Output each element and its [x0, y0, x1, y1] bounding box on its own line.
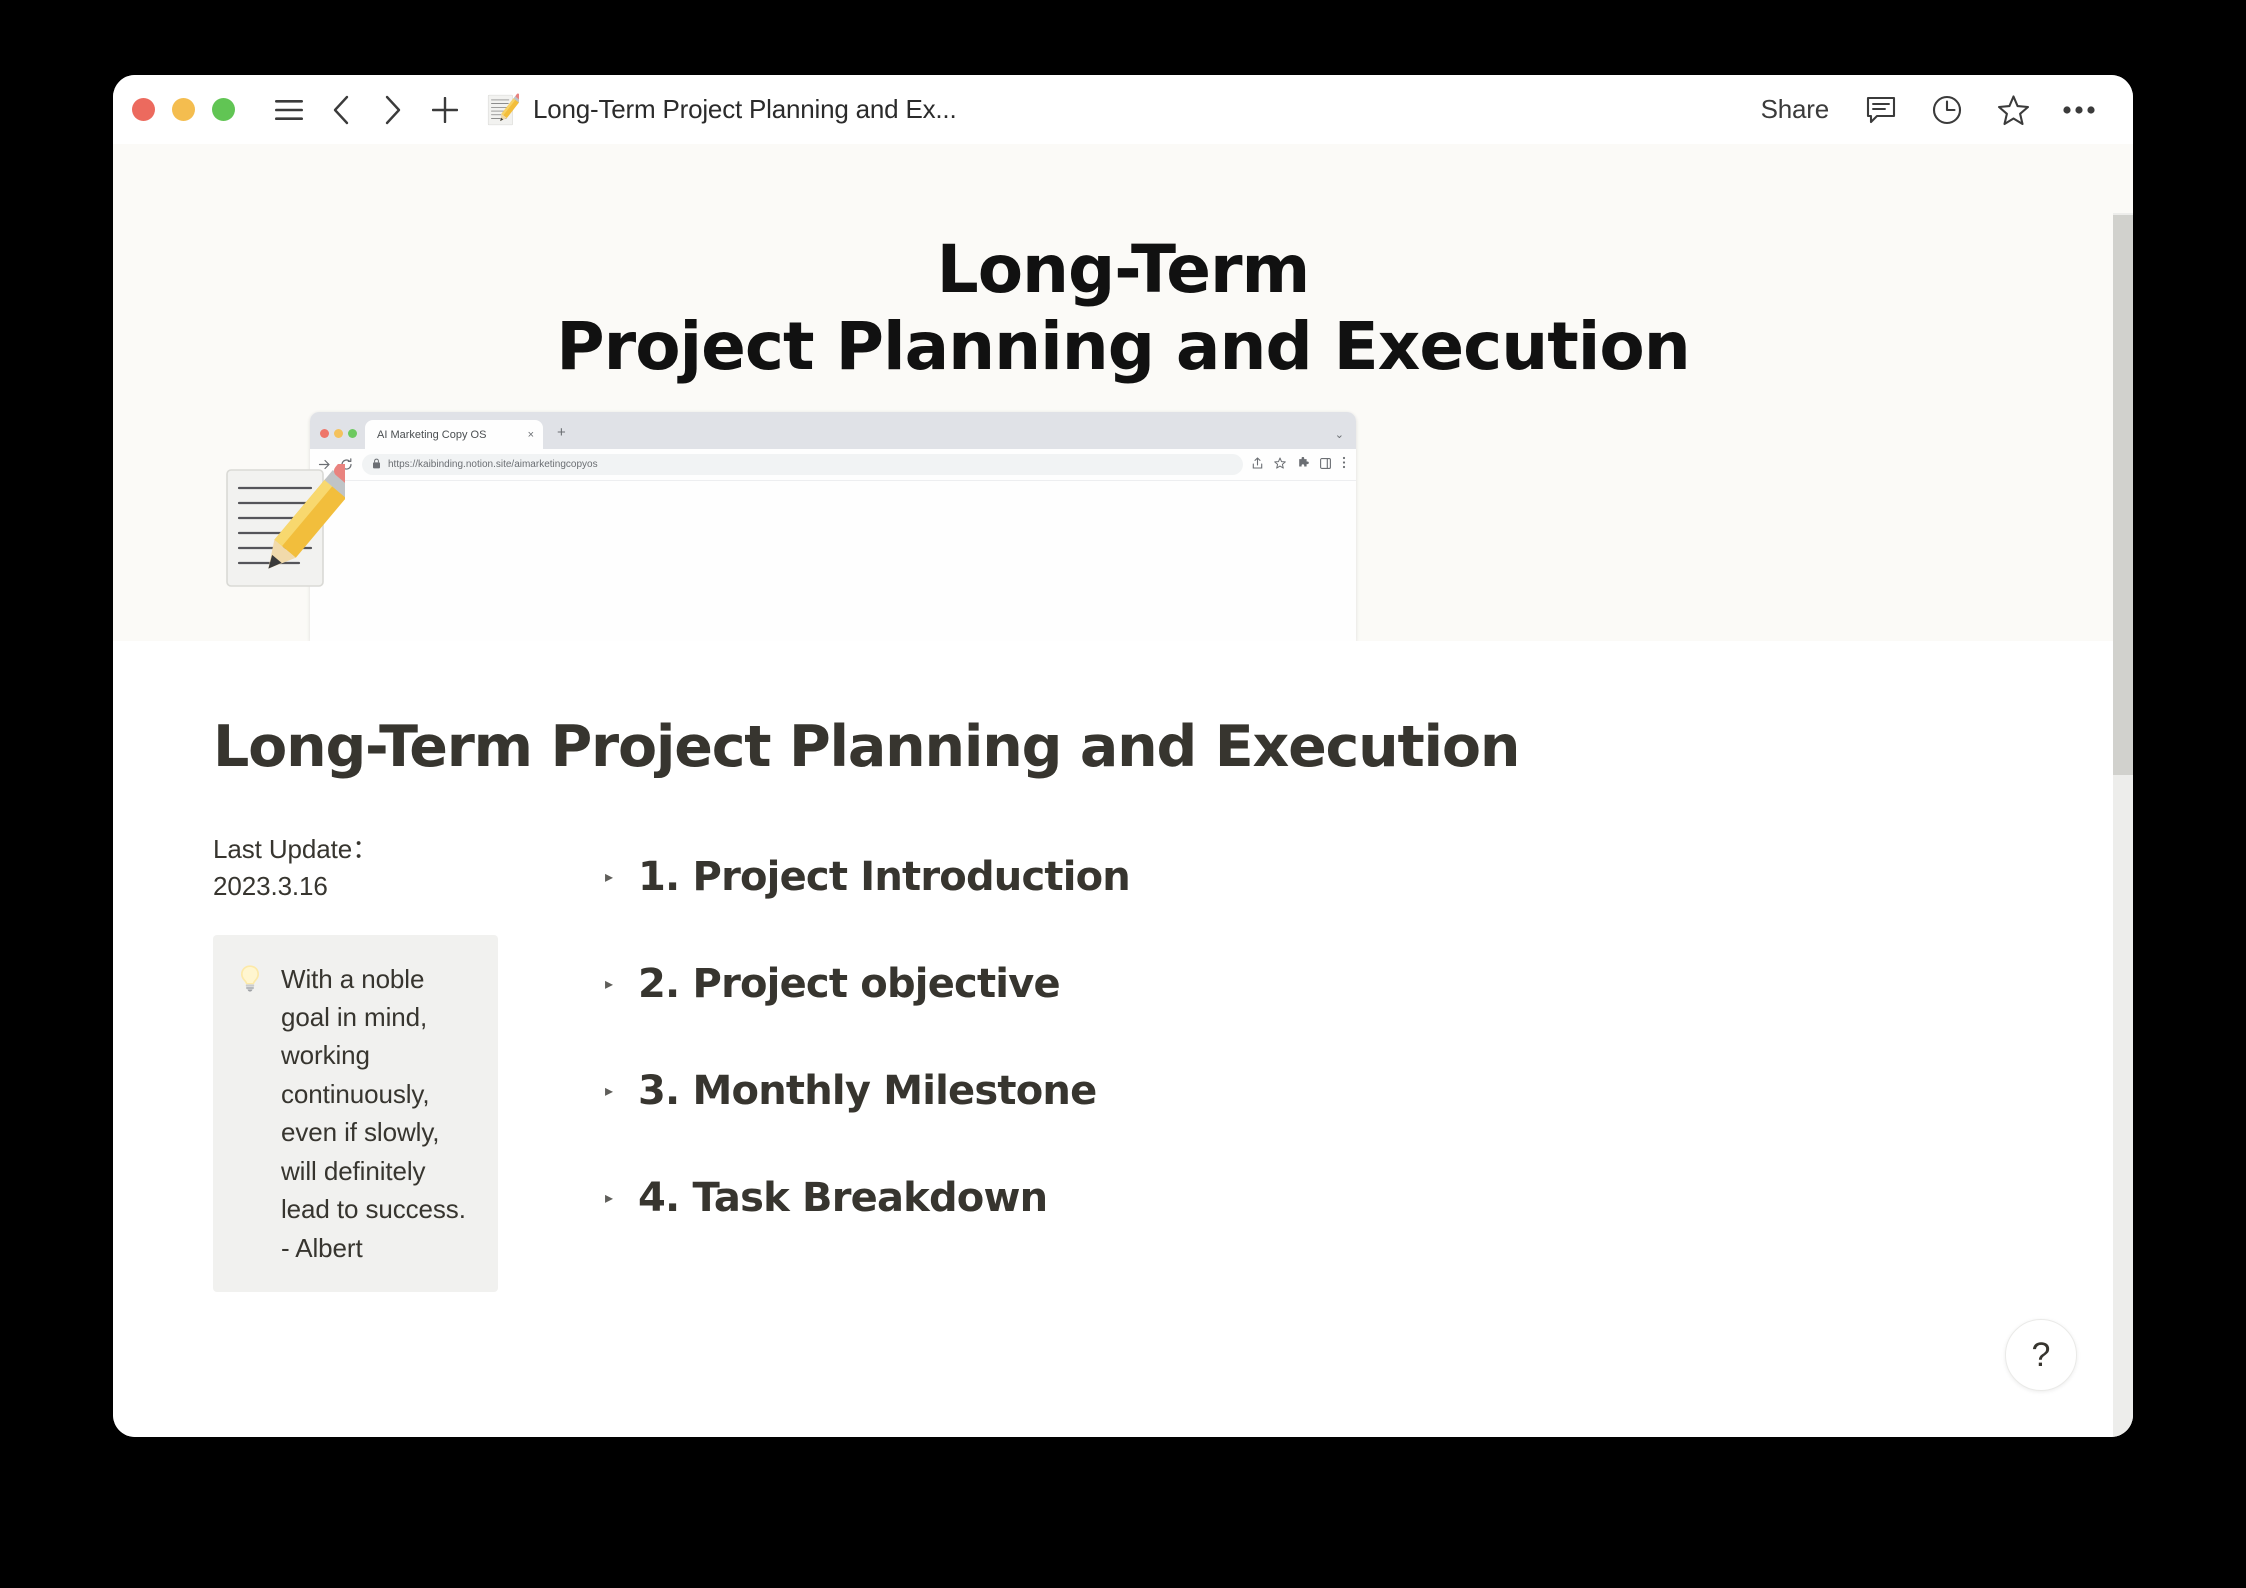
mock-close-dot	[320, 429, 329, 438]
mock-url-text: https://kaibinding.notion.site/aimarketi…	[388, 459, 598, 470]
mock-browser-urlbar: https://kaibinding.notion.site/aimarketi…	[310, 449, 1356, 481]
share-button[interactable]: Share	[1747, 86, 1843, 133]
puzzle-icon	[1297, 456, 1309, 474]
kebab-menu-icon	[1342, 456, 1346, 474]
app-window: Long-Term Project Planning and Ex... Sha…	[113, 75, 2133, 1437]
toggle-label: 1. Project Introduction	[638, 853, 1130, 901]
last-update-line: 2023.3.16	[213, 871, 328, 901]
toggle-item-1[interactable]: ▸ 1. Project Introduction	[598, 853, 2133, 901]
traffic-light-controls	[132, 98, 235, 121]
more-options-icon[interactable]	[2051, 82, 2107, 138]
mock-browser-tab: AI Marketing Copy OS ×	[365, 420, 543, 449]
clock-history-icon[interactable]	[1919, 82, 1975, 138]
share-icon	[1252, 456, 1263, 474]
chevron-left-icon[interactable]	[315, 84, 367, 136]
page-body: Long-Term Project Planning and Execution…	[113, 716, 2133, 1292]
document-title-text: Long-Term Project Planning and Ex...	[533, 94, 956, 125]
cover-browser-mockup: AI Marketing Copy OS × + ⌄	[310, 412, 1356, 641]
document-title-group[interactable]: Long-Term Project Planning and Ex...	[485, 93, 956, 127]
last-update-text: Last Update：2023.3.16	[213, 831, 498, 905]
mock-browser-viewport	[310, 481, 1356, 641]
toggle-label: 2. Project objective	[638, 960, 1060, 1008]
cover-title-line-1: Long-Term	[113, 232, 2133, 309]
chevron-right-icon[interactable]	[367, 84, 419, 136]
maximize-window-button[interactable]	[212, 98, 235, 121]
hamburger-menu-icon[interactable]	[263, 84, 315, 136]
titlebar-actions: Share	[1747, 82, 2133, 138]
toggle-item-3[interactable]: ▸ 3. Monthly Milestone	[598, 1067, 2133, 1115]
toggle-item-2[interactable]: ▸ 2. Project objective	[598, 960, 2133, 1008]
mock-browser-tabbar: AI Marketing Copy OS × + ⌄	[310, 412, 1356, 449]
mock-maximize-dot	[348, 429, 357, 438]
lock-icon	[372, 456, 381, 474]
mock-minimize-dot	[334, 429, 343, 438]
minimize-window-button[interactable]	[172, 98, 195, 121]
right-column: ▸ 1. Project Introduction ▸ 2. Project o…	[498, 831, 2133, 1281]
plus-icon[interactable]	[419, 84, 471, 136]
toggle-triangle-icon[interactable]: ▸	[598, 974, 620, 994]
mock-tablist-chevron-icon: ⌄	[1335, 428, 1344, 441]
toggle-triangle-icon[interactable]: ▸	[598, 1188, 620, 1208]
page-scroll-area[interactable]: Long-Term Project Planning and Execution…	[113, 144, 2133, 1437]
page-columns: Last Update：2023.3.16 With a noble	[113, 831, 2133, 1293]
mock-browser-right-icons	[1252, 456, 1346, 474]
toggle-triangle-icon[interactable]: ▸	[598, 1081, 620, 1101]
memo-emoji[interactable]	[217, 464, 345, 592]
titlebar-nav-group	[263, 84, 471, 136]
star-icon[interactable]	[1985, 82, 2041, 138]
callout-block[interactable]: With a noble goal in mind, working conti…	[213, 935, 498, 1293]
star-outline-icon	[1274, 456, 1286, 474]
toggle-label: 3. Monthly Milestone	[638, 1067, 1096, 1115]
mock-omnibox: https://kaibinding.notion.site/aimarketi…	[362, 454, 1243, 475]
comment-bubble-icon[interactable]	[1853, 82, 1909, 138]
page-cover[interactable]: Long-Term Project Planning and Execution…	[113, 144, 2133, 641]
page-title[interactable]: Long-Term Project Planning and Execution	[213, 716, 2133, 779]
mock-tab-label: AI Marketing Copy OS	[377, 429, 486, 441]
mock-traffic-lights	[320, 429, 357, 438]
memo-emoji	[485, 93, 519, 127]
window-titlebar: Long-Term Project Planning and Ex... Sha…	[113, 75, 2133, 144]
toggle-triangle-icon[interactable]: ▸	[598, 867, 620, 887]
vertical-scrollbar-thumb[interactable]	[2113, 215, 2133, 775]
toggle-item-4[interactable]: ▸ 4. Task Breakdown	[598, 1174, 2133, 1222]
cover-title: Long-Term Project Planning and Execution	[113, 232, 2133, 385]
vertical-scrollbar-track[interactable]	[2113, 213, 2133, 1437]
light-bulb-emoji	[235, 963, 265, 993]
cover-title-line-2: Project Planning and Execution	[113, 309, 2133, 386]
side-panel-icon	[1320, 456, 1331, 474]
left-column: Last Update：2023.3.16 With a noble	[213, 831, 498, 1293]
mock-new-tab-icon: +	[557, 424, 566, 441]
close-window-button[interactable]	[132, 98, 155, 121]
last-update-line: Last Update：	[213, 834, 378, 864]
toggle-label: 4. Task Breakdown	[638, 1174, 1047, 1222]
callout-text: With a noble goal in mind, working conti…	[281, 960, 474, 1268]
help-button[interactable]: ?	[2005, 1319, 2077, 1391]
mock-tab-close-icon: ×	[528, 429, 534, 441]
